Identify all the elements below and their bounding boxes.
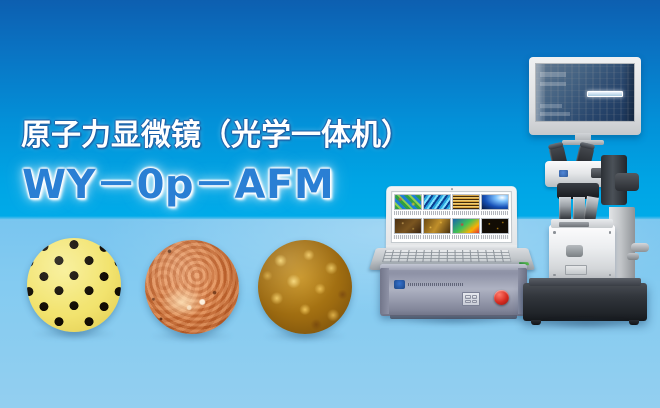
- focus-knob[interactable]: [631, 243, 649, 252]
- cantilever-indicator: [587, 91, 623, 97]
- product-model-label: WY－0p－AFM: [22, 163, 334, 207]
- thumb-image: [452, 218, 480, 234]
- panel-screw: [609, 231, 612, 234]
- base-reflection: [523, 321, 649, 347]
- thumb-caption: [452, 211, 480, 215]
- sample-dot-array: [27, 238, 121, 332]
- page-title: 原子力显微镜（光学一体机）: [21, 121, 411, 151]
- thumb-golden-grains: [423, 218, 451, 241]
- controller-button-panel: [462, 292, 480, 306]
- thumb-caption: [423, 211, 451, 215]
- thumb-image: [394, 194, 422, 210]
- optical-afm-microscope: [505, 57, 660, 347]
- thumb-blue-fibers: [423, 194, 451, 216]
- thumb-image: [452, 194, 480, 210]
- screen-tile: [540, 112, 570, 116]
- gloss-highlight: [145, 240, 239, 334]
- thumb-gold-stripes: [452, 194, 480, 216]
- controller-brand-logo: [394, 280, 405, 289]
- monitor-screen: [535, 63, 635, 122]
- panel-screw: [553, 274, 556, 277]
- webcam-icon: [451, 188, 453, 190]
- controller-base-feet: [390, 315, 517, 319]
- controller-button[interactable]: [465, 300, 471, 304]
- controller-button[interactable]: [472, 300, 478, 304]
- base-top-face: [529, 278, 641, 286]
- panel-screw: [553, 231, 556, 234]
- scanner-nameplate: [565, 265, 587, 275]
- sample-stage-slot: [559, 222, 589, 227]
- thumb-heatmap: [452, 218, 480, 241]
- controller-button[interactable]: [472, 295, 478, 299]
- laptop-lid: [386, 186, 517, 252]
- thumb-rainbow-phase: [394, 194, 422, 216]
- thumb-image: [423, 218, 451, 234]
- product-banner: 原子力显微镜（光学一体机） WY－0p－AFM: [0, 0, 660, 408]
- controller-left-panel: [380, 268, 389, 314]
- thumb-image: [423, 194, 451, 210]
- screen-tile: [540, 82, 566, 86]
- keyboard-keys: [382, 250, 511, 262]
- scanner-adjust-knob[interactable]: [566, 245, 583, 257]
- panel-screw: [609, 274, 612, 277]
- eyepiece-cap: [548, 142, 564, 150]
- thumb-caption: [394, 211, 422, 215]
- screen-tile: [540, 72, 566, 77]
- gloss-highlight: [258, 240, 352, 334]
- thumb-caption: [423, 235, 451, 239]
- fine-focus-knob[interactable]: [627, 253, 639, 260]
- thumb-image: [394, 218, 422, 234]
- thumb-caption: [394, 235, 422, 239]
- thumb-brown-grains: [394, 218, 422, 241]
- gloss-highlight: [27, 238, 121, 332]
- afm-scanner-head: [549, 225, 615, 281]
- display-monitor: [529, 57, 641, 135]
- sample-spiral-topography: [145, 240, 239, 334]
- illuminator-housing: [615, 173, 639, 191]
- vibration-isolation-base: [523, 283, 647, 321]
- controller-button[interactable]: [465, 295, 471, 299]
- screen-tile: [540, 104, 562, 108]
- laptop-screen: [391, 191, 512, 243]
- sample-granular-film: [258, 240, 352, 334]
- microscope-brand-logo: [559, 170, 568, 177]
- thumb-caption: [452, 235, 480, 239]
- controller-brand-text: [408, 283, 464, 286]
